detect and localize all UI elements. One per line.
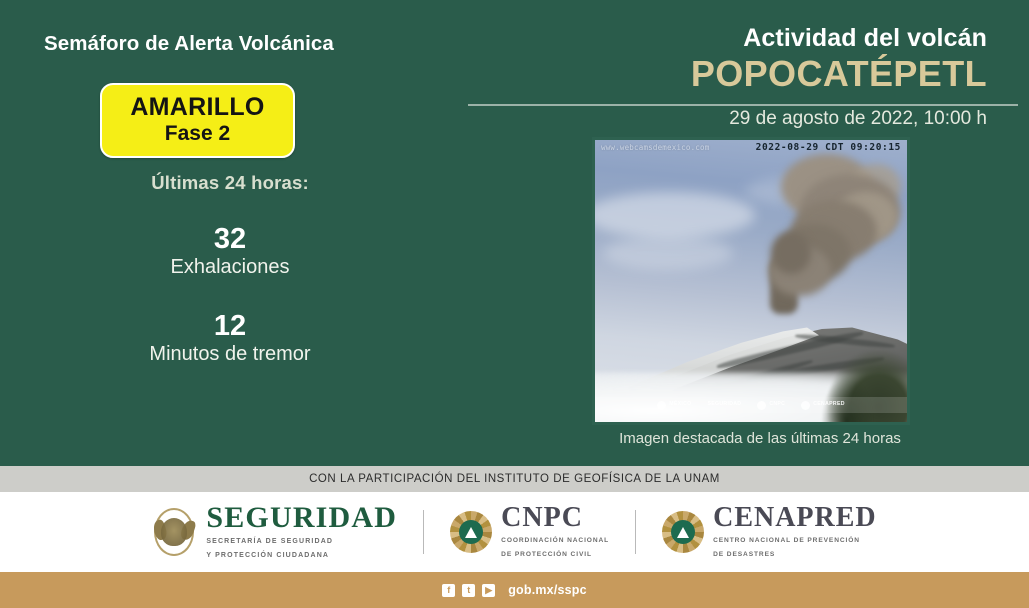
logo-subtitle-2: DE DESASTRES <box>713 550 877 560</box>
unam-participation-text: CON LA PARTICIPACIÓN DEL INSTITUTO DE GE… <box>309 473 720 485</box>
alert-phase-label: Fase 2 <box>165 121 230 147</box>
right-panel: Actividad del volcán POPOCATÉPETL 29 de … <box>460 0 1029 466</box>
unam-participation-bar: CON LA PARTICIPACIÓN DEL INSTITUTO DE GE… <box>0 466 1029 492</box>
watermark-label: CENAPRED <box>813 402 845 407</box>
logo-divider <box>635 510 636 554</box>
logo-name: CNPC <box>501 504 609 532</box>
logo-name: CENAPRED <box>713 504 877 532</box>
cloud-wisp <box>592 192 755 238</box>
volcano-webcam-photo: www.webcamsdemexico.com 2022-08-29 CDT 0… <box>592 137 910 425</box>
mexican-eagle-seal-icon <box>152 506 196 558</box>
infographic-root: Semáforo de Alerta Volcánica AMARILLO Fa… <box>0 0 1029 608</box>
logo-subtitle-1: SECRETARÍA DE SEGURIDAD <box>206 537 397 547</box>
cnpc-wordmark: CNPC COORDINACIÓN NACIONAL DE PROTECCIÓN… <box>501 504 609 559</box>
watermark-logo: CENAPRED <box>801 401 845 410</box>
webcam-timestamp-overlay: 2022-08-29 CDT 09:20:15 <box>756 142 901 153</box>
emblem-icon <box>757 401 766 410</box>
stat-label: Exhalaciones <box>0 256 460 279</box>
logo-seguridad: SEGURIDAD SECRETARÍA DE SEGURIDAD Y PROT… <box>152 503 397 561</box>
emblem-icon <box>801 401 810 410</box>
logo-name: SEGURIDAD <box>206 503 397 533</box>
gobmx-url-label[interactable]: gob.mx/sspc <box>508 583 587 597</box>
facebook-icon[interactable]: f <box>442 584 455 597</box>
photo-caption: Imagen destacada de las últimas 24 horas <box>560 430 960 447</box>
left-panel: Semáforo de Alerta Volcánica AMARILLO Fa… <box>0 0 460 466</box>
header-divider <box>468 104 1018 106</box>
logo-subtitle-2: DE PROTECCIÓN CIVIL <box>501 550 609 560</box>
photo-watermark-strip: MÉXICO SEGURIDAD CNPC CENAPRED <box>595 397 907 413</box>
alert-level-badge: AMARILLO Fase 2 <box>100 83 295 158</box>
watermark-label: CNPC <box>769 402 785 407</box>
semaforo-title: Semáforo de Alerta Volcánica <box>44 32 334 56</box>
seguridad-wordmark: SEGURIDAD SECRETARÍA DE SEGURIDAD Y PROT… <box>206 503 397 561</box>
report-datetime: 29 de agosto de 2022, 10:00 h <box>729 108 987 130</box>
youtube-icon[interactable]: ▶ <box>482 584 495 597</box>
logo-cenapred: CENAPRED CENTRO NACIONAL DE PREVENCIÓN D… <box>662 504 877 559</box>
stat-minutos-tremor: 12 Minutos de tremor <box>0 311 460 366</box>
watermark-logo: SEGURIDAD <box>708 402 742 407</box>
watermark-logo: CNPC <box>757 401 785 410</box>
volcano-name-title: POPOCATÉPETL <box>691 53 987 95</box>
logo-subtitle-1: COORDINACIÓN NACIONAL <box>501 536 609 546</box>
seal-icon <box>657 401 666 410</box>
cloud-wisp <box>603 236 733 270</box>
logo-subtitle-2: Y PROTECCIÓN CIUDADANA <box>206 551 397 561</box>
stat-label: Minutos de tremor <box>0 343 460 366</box>
stat-value: 32 <box>0 224 460 254</box>
alert-color-label: AMARILLO <box>130 94 264 120</box>
webcam-url-overlay: www.webcamsdemexico.com <box>601 143 709 152</box>
stat-exhalaciones: 32 Exhalaciones <box>0 224 460 279</box>
logo-cnpc: CNPC COORDINACIÓN NACIONAL DE PROTECCIÓN… <box>450 504 609 559</box>
agency-logo-bar: SEGURIDAD SECRETARÍA DE SEGURIDAD Y PROT… <box>0 492 1029 572</box>
social-footer-bar: f t ▶ gob.mx/sspc <box>0 572 1029 608</box>
watermark-logo: MÉXICO <box>657 401 691 410</box>
last-24h-label: Últimas 24 horas: <box>0 172 460 194</box>
cnpc-emblem-icon <box>450 511 492 553</box>
cenapred-wordmark: CENAPRED CENTRO NACIONAL DE PREVENCIÓN D… <box>713 504 877 559</box>
logo-subtitle-1: CENTRO NACIONAL DE PREVENCIÓN <box>713 536 877 546</box>
watermark-label: SEGURIDAD <box>708 402 742 407</box>
stat-value: 12 <box>0 311 460 341</box>
ash-plume <box>771 232 811 274</box>
activity-kicker: Actividad del volcán <box>743 24 987 53</box>
watermark-label: MÉXICO <box>669 402 691 407</box>
cenapred-emblem-icon <box>662 511 704 553</box>
twitter-icon[interactable]: t <box>462 584 475 597</box>
logo-divider <box>423 510 424 554</box>
